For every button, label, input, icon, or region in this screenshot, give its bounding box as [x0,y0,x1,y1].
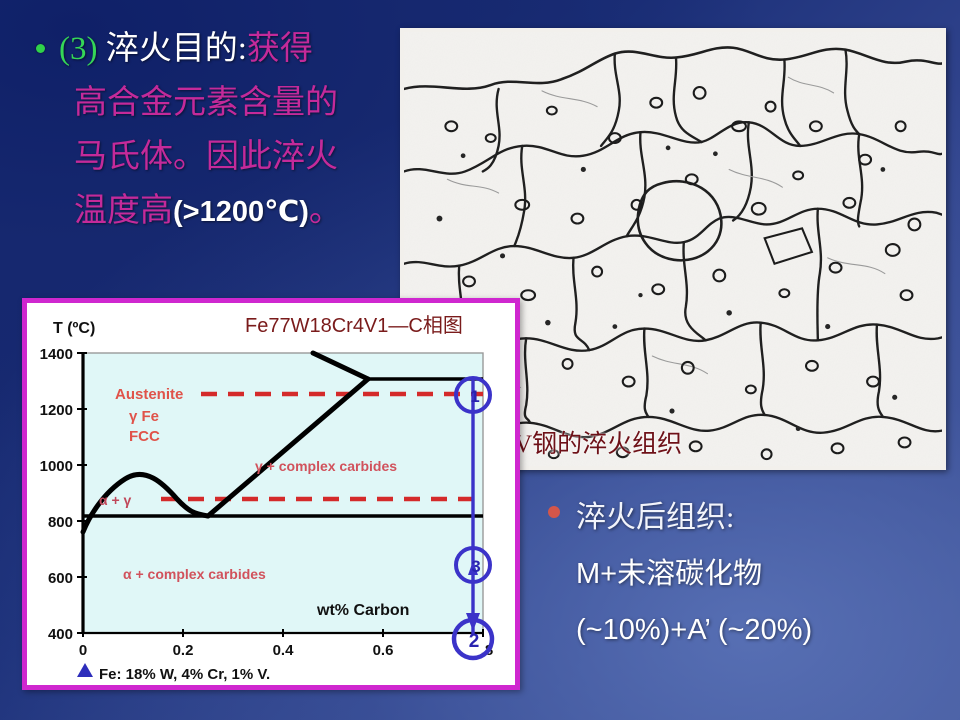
x-axis-label: wt% Carbon [316,602,409,619]
region-label-gamma-fe: γ Fe [129,408,159,425]
green-dot-icon [36,44,45,53]
xtick-0.2: 0.2 [173,642,194,659]
marker-3-label: 3 [471,557,480,576]
bullet-line-1: (3) 淬火目的:获得 [28,22,388,76]
bullet-line-2: 高合金元素含量的 [28,76,388,130]
bullet-line-1-magenta: 获得 [247,31,313,67]
blue-triangle-icon [77,663,93,677]
right-line-2-text: M+未溶碳化物 [548,546,948,602]
phase-diagram: 1400 1200 1000 800 600 400 0 [27,303,515,685]
bullet-line-3: 马氏体。因此淬火 [28,130,388,184]
marker-1-label: 1 [470,387,479,406]
y-axis-label: T (ºC) [53,320,95,337]
right-bullet-line-1: 淬火后组织: [548,490,948,546]
region-label-fcc: FCC [129,428,160,445]
right-line-1-text: 淬火后组织: [576,490,734,546]
ytick-1200: 1200 [40,402,73,419]
region-label-austenite: Austenite [115,386,183,403]
phase-diagram-svg: 1400 1200 1000 800 600 400 0 [27,303,515,685]
right-line-3-text: (~10%)+A’ (~20%) [548,602,948,658]
bullet-line-1-white: 淬火目的: [106,31,247,67]
quench-temperature-value: (>1200℃) [173,196,309,228]
bullet-line-4-magenta-b: 。 [309,193,342,229]
xtick-0: 0 [79,642,87,659]
region-label-alpha-carbides: α + complex carbides [123,566,266,582]
xtick-0.4: 0.4 [273,642,295,659]
phase-diagram-title: Fe77W18Cr4V1—C相图 [245,309,463,338]
ytick-600: 600 [48,570,73,587]
region-label-gamma-carbides: γ + complex carbides [255,458,397,474]
region-label-alpha-gamma: α + γ [99,492,132,508]
ytick-1400: 1400 [40,346,73,363]
slide-canvas: (3) 淬火目的:获得 高合金元素含量的 马氏体。因此淬火 温度高(>1200℃… [0,0,960,720]
ytick-1000: 1000 [40,458,73,475]
bullet-line-4-magenta-a: 温度高 [74,193,173,229]
ytick-800: 800 [48,514,73,531]
phase-diagram-panel: 1400 1200 1000 800 600 400 0 [22,298,520,690]
red-dot-icon [548,506,560,518]
bullet-line-4: 温度高(>1200℃)。 [28,184,388,239]
phase-diagram-footnote: Fe: 18% W, 4% Cr, 1% V. [99,666,270,683]
ytick-400: 400 [48,626,73,643]
right-text-block: 淬火后组织: M+未溶碳化物 (~10%)+A’ (~20%) [548,490,948,658]
bullet-line-1-text: (3) 淬火目的:获得 [59,22,313,76]
xtick-0.6: 0.6 [373,642,394,659]
item-number: (3) [59,31,97,67]
left-text-block: (3) 淬火目的:获得 高合金元素含量的 马氏体。因此淬火 温度高(>1200℃… [28,22,388,239]
marker-2-label: 2 [469,631,480,652]
